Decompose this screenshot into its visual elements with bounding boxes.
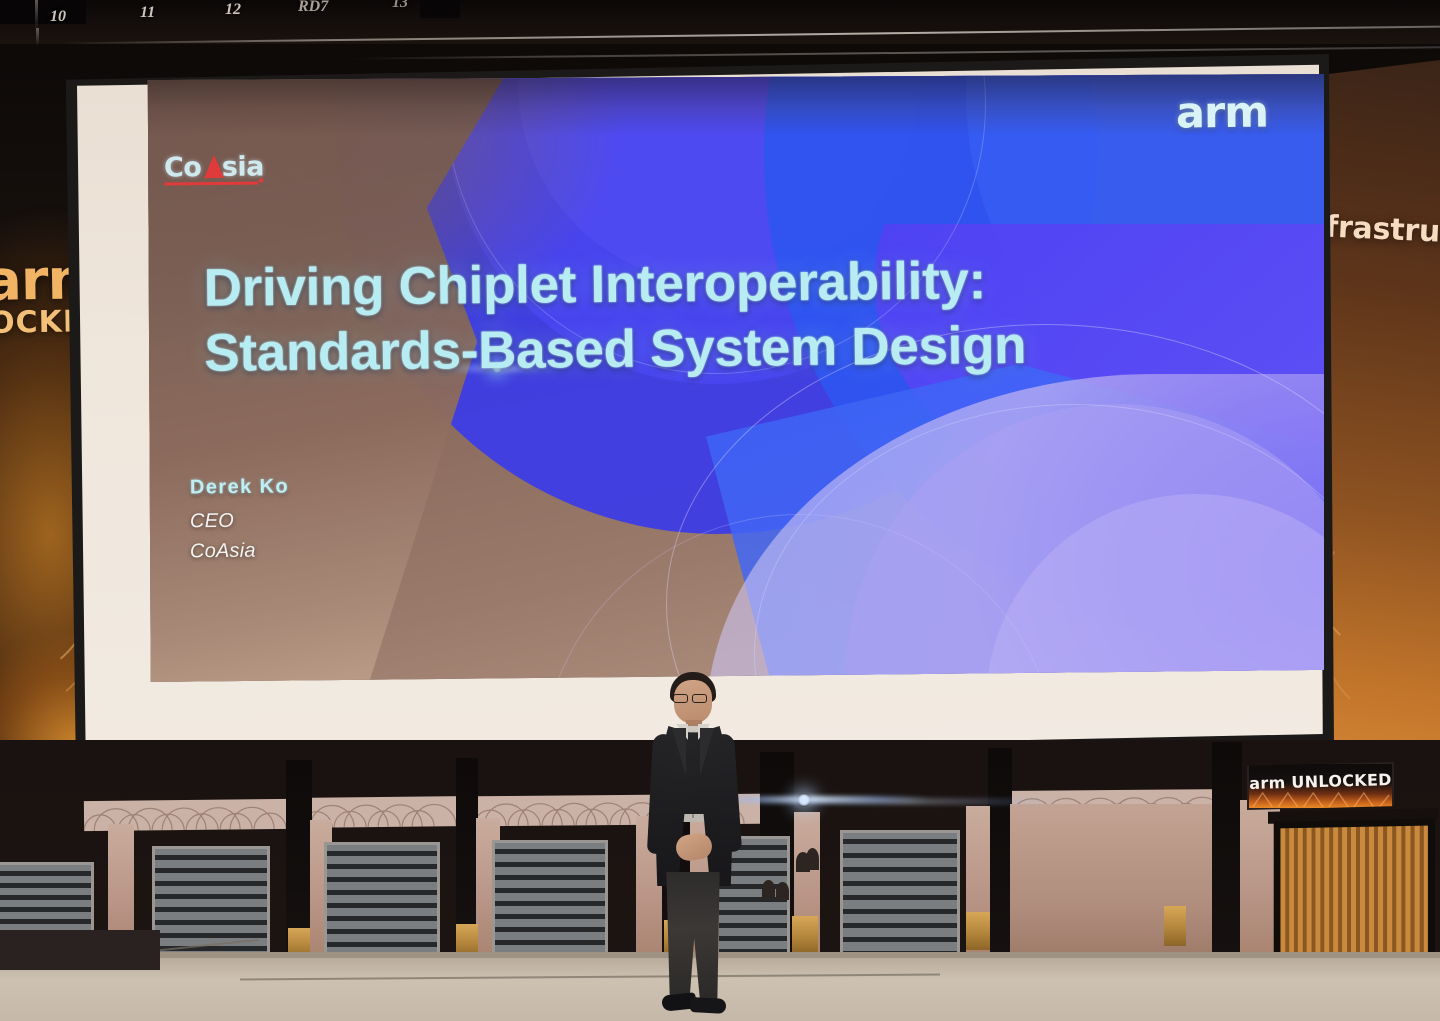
lectern-sign: arm UNLOCKED bbox=[1247, 762, 1394, 810]
audience-silhouette-4 bbox=[776, 882, 789, 900]
slide-title-line-2: Standards-Based System Design bbox=[204, 312, 1205, 386]
speaker-lapel-right bbox=[700, 728, 714, 776]
coasia-logo: CoAsia bbox=[164, 151, 264, 183]
truss-block-left bbox=[0, 0, 86, 24]
coasia-dot bbox=[259, 178, 263, 182]
wall-accent-gold-6 bbox=[1164, 906, 1186, 946]
wall-gap-5 bbox=[988, 748, 1012, 960]
truss-label-rd7: RD7 bbox=[298, 0, 328, 16]
truss-label-13: 13 bbox=[392, 0, 408, 12]
coasia-logo-right: sia bbox=[222, 151, 264, 182]
ceiling-truss-band bbox=[0, 0, 1440, 44]
hvac-louver-panel-3 bbox=[324, 842, 440, 960]
speaker-glasses-icon bbox=[673, 694, 714, 704]
stage-apron-shadow-left bbox=[0, 930, 160, 970]
wall-gap-6 bbox=[1212, 742, 1242, 958]
slide-title-line-1: Driving Chiplet Interoperability: bbox=[203, 247, 1204, 321]
wall-accent-gold-4 bbox=[792, 916, 818, 954]
slide-top-band-shadow bbox=[146, 74, 1324, 136]
slide-background: arm CoAsia Driving Chiplet Interoperabil… bbox=[146, 74, 1324, 682]
truss-block-mid bbox=[420, 0, 460, 18]
truss-label-11: 11 bbox=[140, 4, 155, 22]
audience-silhouette-3 bbox=[762, 880, 775, 898]
slide-speaker-org: CoAsia bbox=[190, 540, 256, 564]
truss-slot-2 bbox=[36, 28, 39, 46]
wall-accent-gold-5 bbox=[966, 912, 990, 950]
slide-speaker-role: CEO bbox=[190, 510, 234, 533]
truss-label-10: 10 bbox=[50, 8, 66, 26]
conference-stage-photo: 10 11 12 RD7 13 arm LOCKED Infrastruct bbox=[0, 0, 1440, 1021]
coasia-logo-left: Co bbox=[164, 152, 202, 183]
hvac-louver-panel-6 bbox=[840, 830, 960, 958]
arm-logo: arm bbox=[1176, 88, 1269, 139]
speaker-shoe-right bbox=[690, 997, 727, 1014]
coasia-logo-text: CoAsia bbox=[164, 151, 264, 183]
truss-label-12: 12 bbox=[225, 1, 241, 19]
stage-spotlight-flare-streak-wide bbox=[744, 798, 1074, 805]
slide-title: Driving Chiplet Interoperability: Standa… bbox=[203, 247, 1204, 386]
projected-slide: arm CoAsia Driving Chiplet Interoperabil… bbox=[146, 74, 1324, 682]
hvac-louver-panel-4 bbox=[492, 840, 608, 960]
truss-slot-1 bbox=[35, 0, 38, 30]
keynote-speaker bbox=[636, 672, 740, 1016]
slide-speaker-name: Derek Ko bbox=[190, 476, 289, 500]
lectern-sign-chevron-pattern bbox=[1249, 787, 1392, 807]
coasia-triangle-a-icon bbox=[204, 155, 224, 178]
speaker-trousers bbox=[664, 872, 722, 1000]
audience-silhouette-2 bbox=[806, 848, 819, 870]
